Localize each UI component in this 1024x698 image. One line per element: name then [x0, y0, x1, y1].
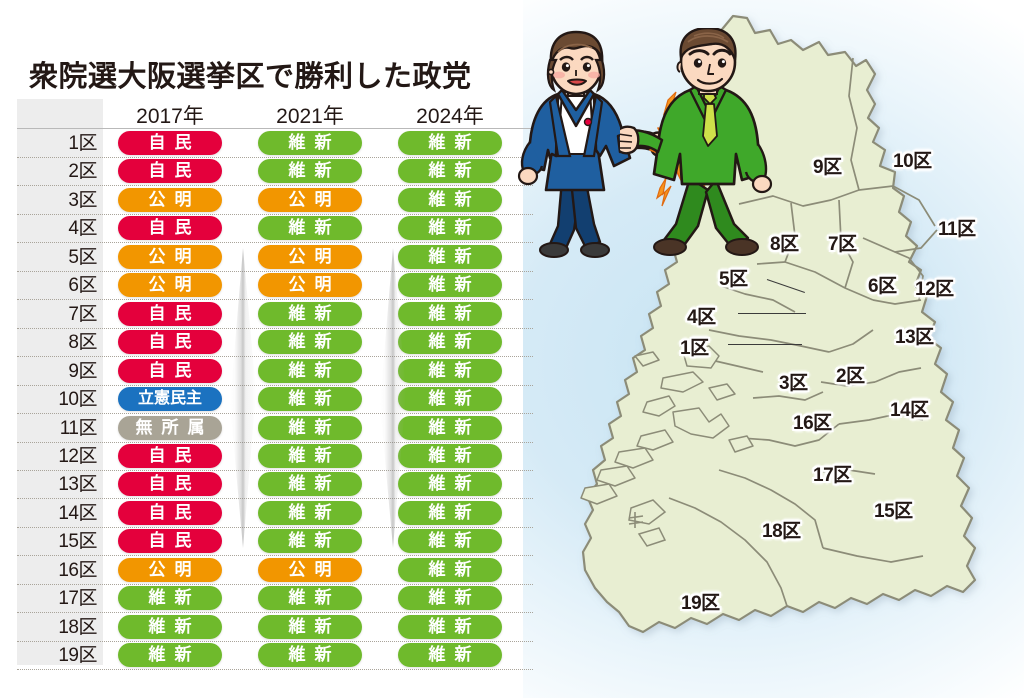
map-district-label-4: 4区	[687, 302, 716, 329]
district-label-4: 4区	[17, 217, 97, 241]
result-pill: 維新	[258, 387, 362, 411]
map-district-label-7: 7区	[828, 229, 857, 256]
result-pill: 維新	[398, 558, 502, 582]
result-pill: 公明	[118, 558, 222, 582]
map-district-label-14: 14区	[890, 395, 929, 422]
district-label-1: 1区	[17, 132, 97, 156]
result-pill: 維新	[398, 302, 502, 326]
row-divider	[17, 669, 533, 670]
map-district-label-16: 16区	[793, 408, 832, 435]
district-label-11: 11区	[17, 417, 97, 441]
district-label-12: 12区	[17, 445, 97, 469]
map-district-label-13: 13区	[895, 322, 934, 349]
result-pill: 維新	[398, 245, 502, 269]
result-pill: 維新	[398, 472, 502, 496]
row-divider	[17, 385, 533, 386]
result-pill: 無所属	[118, 416, 222, 440]
right-hand	[753, 176, 771, 192]
row-divider	[17, 242, 533, 243]
district-label-6: 6区	[17, 274, 97, 298]
result-pill: 維新	[398, 643, 502, 667]
result-pill: 自民	[118, 501, 222, 525]
result-pill: 維新	[258, 501, 362, 525]
district-label-2: 2区	[17, 160, 97, 184]
column-header-2024: 2024年	[398, 100, 502, 130]
male-politician-illustration	[620, 28, 820, 268]
row-divider	[17, 641, 533, 642]
map-district-label-19: 19区	[681, 588, 720, 615]
result-pill: 公明	[258, 245, 362, 269]
result-pill: 維新	[118, 586, 222, 610]
result-pill: 自民	[118, 216, 222, 240]
page-fold-crease-left	[230, 248, 256, 548]
district-label-8: 8区	[17, 331, 97, 355]
result-pill: 維新	[258, 444, 362, 468]
result-pill: 維新	[258, 615, 362, 639]
district-label-18: 18区	[17, 616, 97, 640]
result-pill: 維新	[398, 444, 502, 468]
result-pill: 自民	[118, 529, 222, 553]
result-pill: 維新	[118, 615, 222, 639]
result-pill: 維新	[398, 387, 502, 411]
left-hand	[519, 168, 537, 184]
map-district-label-11: 11区	[938, 214, 976, 241]
row-divider	[17, 185, 533, 186]
result-pill: 維新	[398, 131, 502, 155]
result-pill: 公明	[118, 273, 222, 297]
result-pill: 維新	[398, 273, 502, 297]
district-label-5: 5区	[17, 246, 97, 270]
row-divider	[17, 413, 533, 414]
row-divider	[17, 299, 533, 300]
district-label-7: 7区	[17, 303, 97, 327]
result-pill: 維新	[258, 586, 362, 610]
result-pill: 維新	[258, 131, 362, 155]
result-pill: 立憲民主	[118, 387, 222, 411]
result-pill: 維新	[258, 159, 362, 183]
result-pill: 自民	[118, 472, 222, 496]
row-divider	[17, 214, 533, 215]
row-divider	[17, 271, 533, 272]
result-pill: 公明	[118, 188, 222, 212]
result-pill: 維新	[398, 330, 502, 354]
result-pill: 自民	[118, 131, 222, 155]
district-label-15: 15区	[17, 530, 97, 554]
result-pill: 維新	[398, 416, 502, 440]
result-pill: 維新	[258, 472, 362, 496]
row-divider	[17, 584, 533, 585]
row-divider	[17, 612, 533, 613]
district-label-16: 16区	[17, 559, 97, 583]
election-results-table: 衆院選大阪選挙区で勝利した政党 2017年2021年2024年 1区自民維新維新…	[0, 0, 540, 698]
result-pill: 維新	[398, 188, 502, 212]
result-pill: 自民	[118, 330, 222, 354]
district-label-10: 10区	[17, 388, 97, 412]
map-district-label-3: 3区	[779, 368, 808, 395]
row-divider	[17, 157, 533, 158]
result-pill: 維新	[398, 586, 502, 610]
map-district-label-6: 6区	[868, 271, 897, 298]
map-district-label-2: 2区	[836, 361, 865, 388]
map-district-label-18: 18区	[762, 516, 801, 543]
result-pill: 維新	[258, 529, 362, 553]
row-divider	[17, 555, 533, 556]
district-label-19: 19区	[17, 644, 97, 668]
page-title: 衆院選大阪選挙区で勝利した政党	[29, 53, 472, 95]
row-divider	[17, 470, 533, 471]
map-leader-line	[728, 344, 802, 345]
result-pill: 公明	[258, 273, 362, 297]
row-divider	[17, 356, 533, 357]
result-pill: 維新	[258, 302, 362, 326]
map-district-label-17: 17区	[813, 460, 852, 487]
result-pill: 自民	[118, 359, 222, 383]
result-pill: 維新	[258, 359, 362, 383]
result-pill: 維新	[258, 416, 362, 440]
result-pill: 維新	[398, 501, 502, 525]
result-pill: 維新	[258, 643, 362, 667]
result-pill: 維新	[398, 216, 502, 240]
district-label-13: 13区	[17, 473, 97, 497]
district-label-9: 9区	[17, 360, 97, 384]
result-pill: 公明	[118, 245, 222, 269]
map-leader-line	[738, 313, 806, 314]
map-district-label-10: 10区	[893, 146, 932, 173]
result-pill: 維新	[398, 159, 502, 183]
district-label-17: 17区	[17, 587, 97, 611]
result-pill: 自民	[118, 159, 222, 183]
lapel-badge	[585, 119, 592, 126]
column-header-2021: 2021年	[258, 100, 362, 130]
map-district-label-5: 5区	[719, 264, 748, 291]
result-pill: 維新	[258, 216, 362, 240]
district-label-14: 14区	[17, 502, 97, 526]
result-pill: 維新	[258, 330, 362, 354]
result-pill: 維新	[398, 615, 502, 639]
result-pill: 自民	[118, 302, 222, 326]
result-pill: 公明	[258, 188, 362, 212]
row-divider	[17, 328, 533, 329]
row-divider	[17, 498, 533, 499]
male-fist	[620, 127, 638, 154]
map-district-label-1: 1区	[680, 333, 709, 360]
column-header-2017: 2017年	[118, 100, 222, 130]
row-divider	[17, 527, 533, 528]
result-pill: 自民	[118, 444, 222, 468]
map-district-label-15: 15区	[874, 496, 913, 523]
result-pill: 維新	[398, 359, 502, 383]
result-pill: 公明	[258, 558, 362, 582]
row-divider	[17, 442, 533, 443]
map-district-label-12: 12区	[915, 274, 954, 301]
result-pill: 維新	[398, 529, 502, 553]
result-pill: 維新	[118, 643, 222, 667]
district-label-3: 3区	[17, 189, 97, 213]
